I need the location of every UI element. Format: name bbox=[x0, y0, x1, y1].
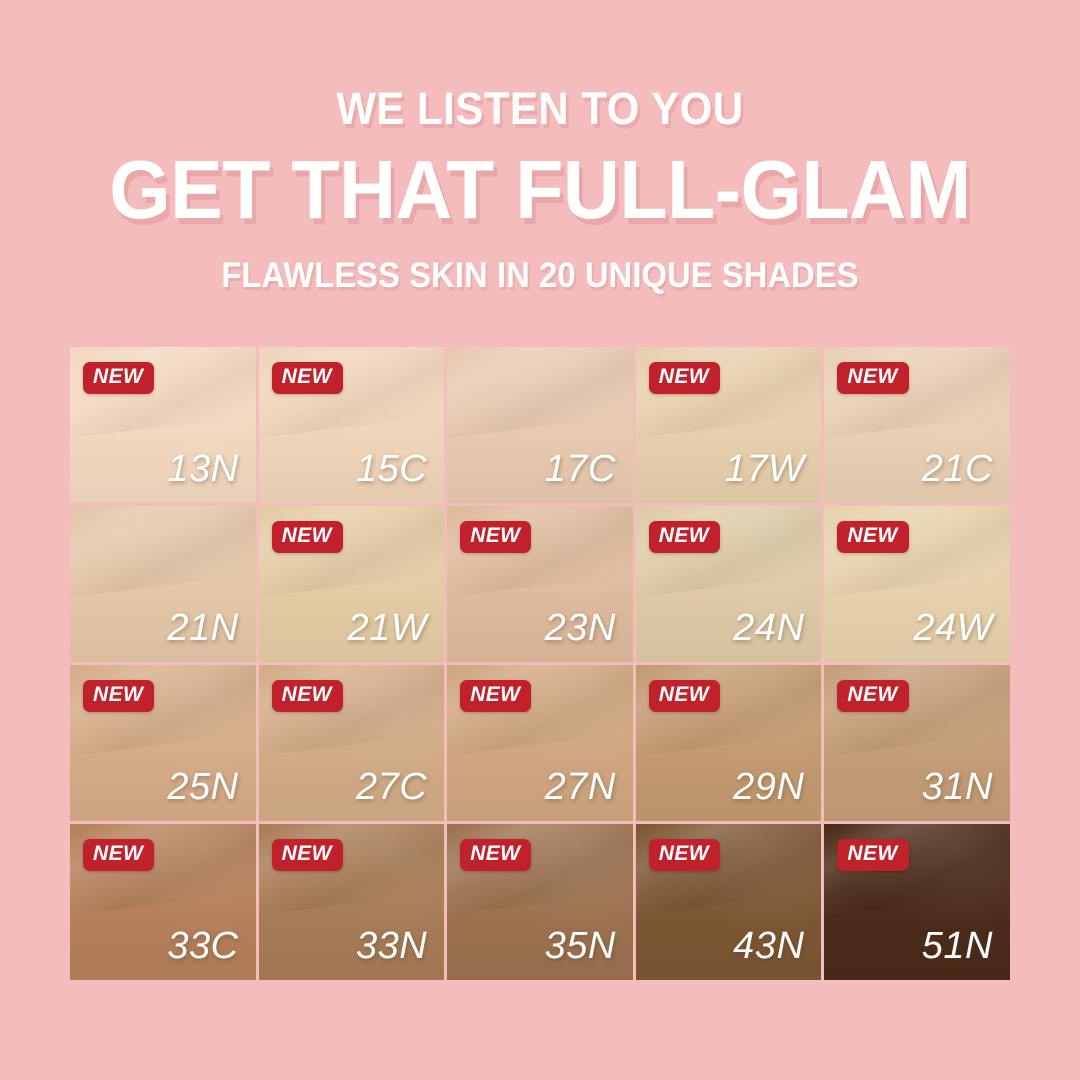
shade-code-label: 35N bbox=[545, 927, 616, 967]
shade-swatch[interactable]: NEW33C bbox=[70, 824, 256, 980]
shade-swatch[interactable]: NEW51N bbox=[824, 824, 1010, 980]
shade-code-label: 51N bbox=[922, 927, 993, 967]
shade-swatch[interactable]: NEW24N bbox=[636, 506, 822, 662]
shade-swatch[interactable]: NEW35N bbox=[447, 824, 633, 980]
new-badge: NEW bbox=[272, 680, 343, 712]
shade-swatch[interactable]: NEW33N bbox=[259, 824, 445, 980]
shade-code-label: 24W bbox=[913, 609, 993, 649]
shade-swatch[interactable]: NEW25N bbox=[70, 665, 256, 821]
shade-swatch[interactable]: NEW29N bbox=[636, 665, 822, 821]
shade-swatch[interactable]: NEW31N bbox=[824, 665, 1010, 821]
shade-code-label: 43N bbox=[733, 927, 804, 967]
shade-swatch[interactable]: NEW17W bbox=[636, 347, 822, 503]
new-badge: NEW bbox=[83, 680, 154, 712]
shade-swatch[interactable]: NEW27C bbox=[259, 665, 445, 821]
shade-code-label: 33N bbox=[356, 927, 427, 967]
shade-code-label: 31N bbox=[922, 768, 993, 808]
shade-code-label: 17W bbox=[725, 450, 805, 490]
shade-code-label: 27N bbox=[545, 768, 616, 808]
shade-swatch[interactable]: NEW13N bbox=[70, 347, 256, 503]
promo-poster: WE LISTEN TO YOU GET THAT FULL-GLAM FLAW… bbox=[0, 0, 1080, 1080]
shade-code-label: 29N bbox=[733, 768, 804, 808]
shade-code-label: 21N bbox=[167, 609, 238, 649]
new-badge: NEW bbox=[460, 680, 531, 712]
shade-code-label: 15C bbox=[356, 450, 427, 490]
new-badge: NEW bbox=[83, 839, 154, 871]
new-badge: NEW bbox=[83, 362, 154, 394]
headline-subline: FLAWLESS SKIN IN 20 UNIQUE SHADES bbox=[38, 258, 1042, 295]
new-badge: NEW bbox=[837, 680, 908, 712]
shade-code-label: 33C bbox=[167, 927, 238, 967]
shade-code-label: 27C bbox=[356, 768, 427, 808]
shade-swatch[interactable]: NEW21C bbox=[824, 347, 1010, 503]
new-badge: NEW bbox=[837, 521, 908, 553]
headline-eyebrow: WE LISTEN TO YOU bbox=[38, 86, 1042, 132]
new-badge: NEW bbox=[649, 521, 720, 553]
shade-swatch[interactable]: 21N bbox=[70, 506, 256, 662]
shade-swatch[interactable]: NEW43N bbox=[636, 824, 822, 980]
new-badge: NEW bbox=[837, 839, 908, 871]
new-badge: NEW bbox=[460, 521, 531, 553]
shade-code-label: 17C bbox=[545, 450, 616, 490]
new-badge: NEW bbox=[460, 839, 531, 871]
shade-code-label: 24N bbox=[733, 609, 804, 649]
shade-swatch[interactable]: NEW27N bbox=[447, 665, 633, 821]
new-badge: NEW bbox=[272, 839, 343, 871]
new-badge: NEW bbox=[649, 362, 720, 394]
headline-title: GET THAT FULL-GLAM bbox=[27, 148, 1053, 231]
new-badge: NEW bbox=[649, 839, 720, 871]
shade-swatch[interactable]: NEW21W bbox=[259, 506, 445, 662]
new-badge: NEW bbox=[272, 362, 343, 394]
new-badge: NEW bbox=[837, 362, 908, 394]
shade-code-label: 21C bbox=[922, 450, 993, 490]
headline-block: WE LISTEN TO YOU GET THAT FULL-GLAM FLAW… bbox=[0, 86, 1080, 295]
shade-swatch[interactable]: NEW24W bbox=[824, 506, 1010, 662]
shade-code-label: 21W bbox=[348, 609, 428, 649]
shade-swatch-grid: NEW13NNEW15C17CNEW17WNEW21C21NNEW21WNEW2… bbox=[70, 347, 1010, 980]
shade-swatch[interactable]: NEW23N bbox=[447, 506, 633, 662]
new-badge: NEW bbox=[649, 680, 720, 712]
shade-code-label: 25N bbox=[167, 768, 238, 808]
shade-swatch[interactable]: NEW15C bbox=[259, 347, 445, 503]
new-badge: NEW bbox=[272, 521, 343, 553]
shade-swatch[interactable]: 17C bbox=[447, 347, 633, 503]
shade-code-label: 23N bbox=[545, 609, 616, 649]
shade-code-label: 13N bbox=[167, 450, 238, 490]
